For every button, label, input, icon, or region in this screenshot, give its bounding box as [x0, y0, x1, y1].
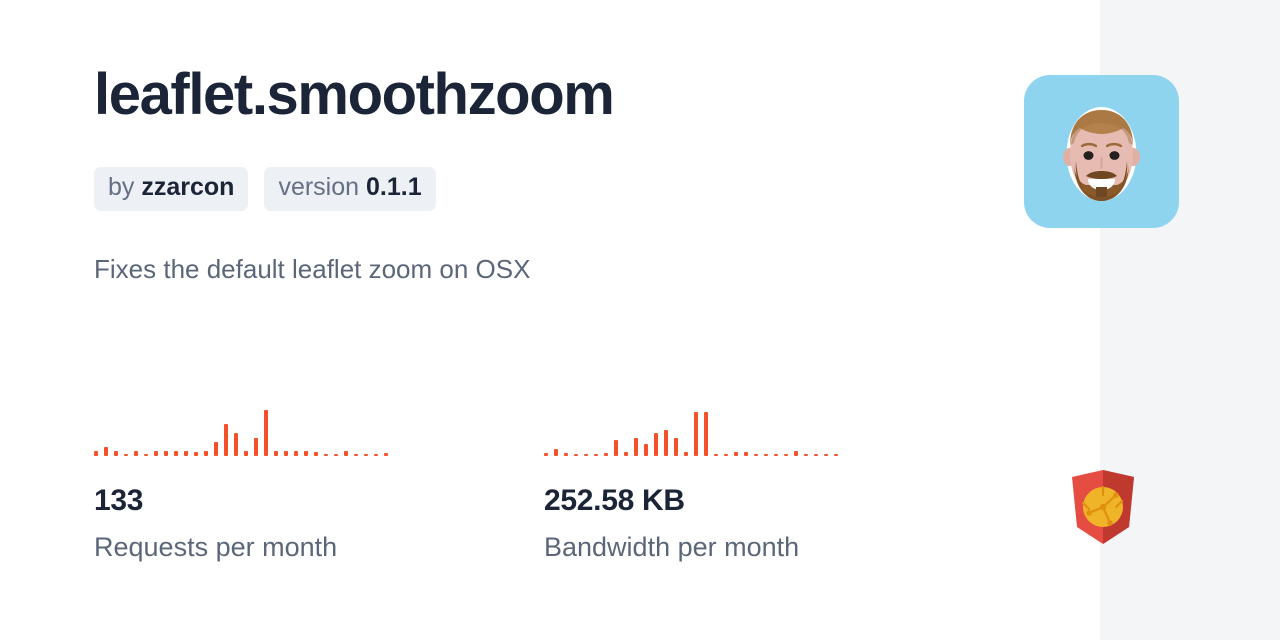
sparkline-bar	[134, 451, 138, 456]
sparkline-bar	[704, 412, 708, 456]
version-prefix-label: version	[278, 173, 366, 201]
bandwidth-sparkline	[544, 396, 864, 456]
sparkline-bar	[264, 410, 268, 456]
sparkline-bar	[144, 454, 148, 456]
sparkline-bar	[644, 444, 648, 456]
sparkline-bar	[554, 449, 558, 456]
sparkline-bar	[354, 454, 358, 456]
sparkline-bar	[684, 452, 688, 456]
sparkline-bar	[314, 452, 318, 456]
requests-label: Requests per month	[94, 531, 544, 563]
sparkline-bar	[114, 451, 118, 456]
sparkline-bar	[624, 452, 628, 456]
sparkline-bar	[234, 433, 238, 456]
sparkline-bar	[104, 447, 108, 456]
page-content: leaflet.smoothzoom by zzarcon version 0.…	[0, 0, 1280, 640]
page-title: leaflet.smoothzoom	[94, 62, 613, 129]
package-meta-badges: by zzarcon version 0.1.1	[94, 167, 436, 211]
avatar	[1024, 75, 1179, 228]
sparkline-bar	[804, 454, 808, 456]
sparkline-bar	[374, 454, 378, 456]
sparkline-bar	[224, 424, 228, 456]
sparkline-bar	[304, 451, 308, 456]
author-name: zzarcon	[141, 173, 234, 201]
sparkline-bar	[184, 451, 188, 456]
sparkline-bar	[574, 454, 578, 456]
sparkline-bar	[214, 442, 218, 456]
sparkline-bar	[244, 451, 248, 456]
version-badge: version 0.1.1	[264, 167, 435, 211]
jsdelivr-logo-icon	[1070, 470, 1136, 544]
version-number: 0.1.1	[366, 173, 422, 201]
sparkline-bar	[654, 433, 658, 456]
sparkline-bar	[824, 454, 828, 456]
sparkline-bar	[284, 451, 288, 456]
sparkline-bar	[594, 454, 598, 456]
sparkline-bar	[724, 454, 728, 456]
sparkline-bar	[674, 438, 678, 456]
sparkline-bar	[174, 451, 178, 456]
sparkline-bar	[664, 430, 668, 456]
sparkline-bar	[324, 454, 328, 456]
requests-sparkline	[94, 396, 414, 456]
stats-row: 133 Requests per month 252.58 KB Bandwid…	[94, 396, 994, 563]
sparkline-bar	[344, 451, 348, 456]
sparkline-bar	[734, 452, 738, 456]
sparkline-bar	[694, 412, 698, 456]
sparkline-bar	[744, 452, 748, 456]
sparkline-bar	[584, 454, 588, 456]
sparkline-bar	[384, 453, 388, 456]
sparkline-bar	[334, 454, 338, 456]
sparkline-bar	[194, 452, 198, 456]
sparkline-bar	[294, 451, 298, 456]
sparkline-bar	[764, 454, 768, 456]
sparkline-bar	[204, 451, 208, 456]
sparkline-bar	[834, 454, 838, 456]
sparkline-bar	[564, 453, 568, 456]
sparkline-bar	[614, 440, 618, 456]
sparkline-bar	[814, 454, 818, 456]
sparkline-bar	[784, 454, 788, 456]
bandwidth-label: Bandwidth per month	[544, 531, 994, 563]
sparkline-bar	[794, 451, 798, 456]
sparkline-bar	[364, 454, 368, 456]
sparkline-bar	[94, 451, 98, 456]
author-badge: by zzarcon	[94, 167, 248, 211]
stat-bandwidth: 252.58 KB Bandwidth per month	[544, 396, 994, 563]
sparkline-bar	[254, 438, 258, 456]
sparkline-bar	[714, 454, 718, 456]
sparkline-bar	[274, 451, 278, 456]
sparkline-bar	[604, 453, 608, 456]
sparkline-bar	[124, 454, 128, 456]
sparkline-bar	[774, 454, 778, 456]
requests-value: 133	[94, 484, 544, 517]
sparkline-bar	[164, 451, 168, 456]
sparkline-bar	[754, 454, 758, 456]
stat-requests: 133 Requests per month	[94, 396, 544, 563]
author-prefix-label: by	[108, 173, 141, 201]
package-page: leaflet.smoothzoom by zzarcon version 0.…	[0, 0, 1280, 640]
sparkline-bar	[634, 438, 638, 456]
bandwidth-value: 252.58 KB	[544, 484, 994, 517]
sparkline-bar	[544, 453, 548, 456]
sparkline-bar	[154, 451, 158, 456]
package-description: Fixes the default leaflet zoom on OSX	[94, 252, 530, 287]
